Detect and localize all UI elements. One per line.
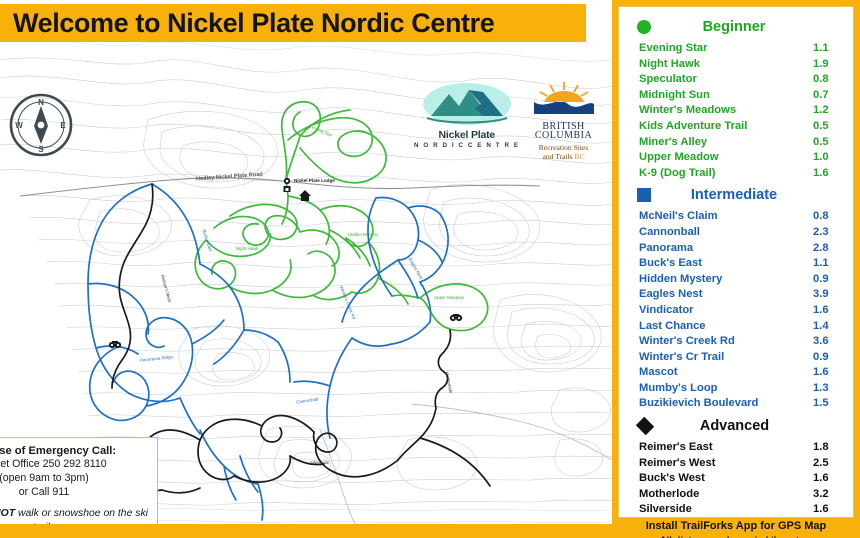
trail-legend-panel: Beginner Evening Star1.1 Night Hawk1.9 S…	[612, 0, 860, 524]
compass-west: W	[15, 121, 23, 130]
trail-distance: 1.9	[813, 57, 843, 73]
emergency-line-1: Ticket Office 250 292 8110	[0, 458, 149, 472]
access-road	[20, 178, 540, 196]
trail-row[interactable]: Reimer's East1.8	[639, 440, 843, 456]
trail-name: Hidden Mystery	[639, 272, 809, 288]
trail-row[interactable]: Evening Star1.1	[639, 41, 843, 57]
trail-distance: 1.6	[813, 471, 843, 487]
trail-row[interactable]: Winter's Meadows1.2	[639, 103, 843, 119]
legend-header-intermediate: Intermediate	[629, 183, 843, 207]
bc-logo-sub2-accent: BC	[575, 152, 585, 161]
trail-row[interactable]: Mascot1.6	[639, 365, 843, 381]
trail-distance: 0.5	[813, 119, 843, 135]
trail-distance: 2.5	[813, 456, 843, 472]
trail-name: Buck's East	[639, 256, 809, 272]
trail-row[interactable]: Buck's East1.1	[639, 256, 843, 272]
trail-row[interactable]: Miner's Alley0.5	[639, 135, 843, 151]
nickel-plate-logo: Nickel Plate N O R D I C C E N T R E	[414, 82, 520, 149]
british-columbia-logo: BRITISH COLUMBIA Recreation Sites and Tr…	[528, 82, 600, 161]
trail-distance: 0.8	[813, 209, 843, 225]
page-title: Welcome to Nickel Plate Nordic Centre	[0, 8, 494, 39]
legend-header-beginner: Beginner	[629, 15, 843, 39]
trail-distance: 0.9	[813, 350, 843, 366]
trail-name: Miner's Alley	[639, 135, 809, 151]
trail-distance: 1.1	[813, 41, 843, 57]
emergency-title: In Case of Emergency Call:	[0, 445, 149, 457]
trail-row[interactable]: Vindicator1.6	[639, 303, 843, 319]
trail-distance: 2.8	[813, 241, 843, 257]
trail-name: Vindicator	[639, 303, 809, 319]
trail-distance: 1.6	[813, 303, 843, 319]
legend-header-advanced: Advanced	[629, 414, 843, 438]
trail-name: Reimer's East	[639, 440, 813, 456]
trail-distance: 3.9	[813, 287, 843, 303]
trail-row[interactable]: Eagles Nest3.9	[639, 287, 843, 303]
trail-name: Eagles Nest	[639, 287, 809, 303]
trail-distance: 3.2	[813, 487, 843, 503]
trail-name: Cannonball	[639, 225, 809, 241]
trail-distance: 1.2	[813, 103, 843, 119]
trail-distance: 1.3	[813, 381, 843, 397]
trail-distance: 2.3	[813, 225, 843, 241]
emergency-info-box: In Case of Emergency Call: Ticket Office…	[0, 437, 158, 538]
trail-row[interactable]: Kids Adventure Trail0.5	[639, 119, 843, 135]
trail-name: Winter's Cr Trail	[639, 350, 809, 366]
trail-name: Winter's Meadows	[639, 103, 809, 119]
legend-section-beginner: Beginner Evening Star1.1 Night Hawk1.9 S…	[629, 15, 843, 181]
trail-distance: 0.8	[813, 72, 843, 88]
trail-row[interactable]: K-9 (Dog Trail)1.6	[639, 166, 843, 182]
legend-inner-frame: Beginner Evening Star1.1 Night Hawk1.9 S…	[618, 6, 854, 518]
trail-distance: 0.7	[813, 88, 843, 104]
trail-name: Upper Meadow	[639, 150, 809, 166]
trail-name: Buck's West	[639, 471, 813, 487]
trail-row[interactable]: Winter's Cr Trail0.9	[639, 350, 843, 366]
nickel-plate-logo-name: Nickel Plate	[414, 129, 520, 141]
compass-south: S	[38, 145, 44, 154]
trail-name: Motherlode	[639, 487, 813, 503]
trail-name: Panorama	[639, 241, 809, 257]
viewpoint-markers	[109, 314, 462, 348]
nickel-plate-logo-subtitle: N O R D I C C E N T R E	[414, 142, 520, 149]
trail-distance: 0.5	[813, 135, 843, 151]
trail-row[interactable]: Winter's Creek Rd3.6	[639, 334, 843, 350]
trail-name: Silverside	[639, 502, 813, 518]
trail-distance: 3.6	[813, 334, 843, 350]
trail-distance: 1.6	[813, 365, 843, 381]
trail-list-beginner: Evening Star1.1 Night Hawk1.9 Speculator…	[629, 41, 843, 181]
trail-name: Midnight Sun	[639, 88, 809, 104]
legend-section-intermediate: Intermediate McNeil's Claim0.8 Cannonbal…	[629, 183, 843, 412]
trail-map-page: Hedley Nickel Plate Road Nickel Plate Lo…	[0, 0, 860, 538]
trail-row[interactable]: Last Chance1.4	[639, 319, 843, 335]
trail-name: Night Hawk	[639, 57, 809, 73]
emergency-line-2: (open 9am to 3pm)	[0, 472, 149, 486]
trail-name: Buzikievich Boulevard	[639, 396, 809, 412]
trail-list-advanced: Reimer's East1.8 Reimer's West2.5 Buck's…	[629, 440, 843, 518]
trail-row[interactable]: Speculator0.8	[639, 72, 843, 88]
trail-list-intermediate: McNeil's Claim0.8 Cannonball2.3 Panorama…	[629, 209, 843, 412]
trail-name: Kids Adventure Trail	[639, 119, 809, 135]
trail-name: Last Chance	[639, 319, 809, 335]
trail-name: McNeil's Claim	[639, 209, 809, 225]
compass-east: E	[60, 121, 66, 130]
trail-distance: 1.4	[813, 319, 843, 335]
bc-logo-line2: COLUMBIA	[528, 130, 600, 141]
legend-title-beginner: Beginner	[651, 19, 843, 35]
trail-row[interactable]: Night Hawk1.9	[639, 57, 843, 73]
logo-group: Nickel Plate N O R D I C C E N T R E BRI…	[414, 82, 606, 158]
title-banner: Welcome to Nickel Plate Nordic Centre	[0, 4, 586, 42]
emergency-warning-bold: DO NOT	[0, 508, 15, 519]
trail-row[interactable]: Upper Meadow1.0	[639, 150, 843, 166]
trail-name: K-9 (Dog Trail)	[639, 166, 809, 182]
trail-row[interactable]: Hidden Mystery0.9	[639, 272, 843, 288]
trail-distance: 1.6	[813, 502, 843, 518]
trail-row[interactable]: Silverside1.6	[639, 502, 843, 518]
trailforks-app-line: Install TrailForks App for GPS Map	[629, 520, 843, 532]
trail-row[interactable]: Buzikievich Boulevard1.5	[639, 396, 843, 412]
trail-row[interactable]: Motherlode3.2	[639, 487, 843, 503]
trail-row[interactable]: Buck's West1.6	[639, 471, 843, 487]
trail-row[interactable]: Midnight Sun0.7	[639, 88, 843, 104]
compass-north: N	[38, 98, 44, 107]
trail-row[interactable]: Cannonball2.3	[639, 225, 843, 241]
trail-name: Evening Star	[639, 41, 809, 57]
trail-distance: 1.6	[813, 166, 843, 182]
trail-distance: 1.5	[813, 396, 843, 412]
legend-footer: Install TrailForks App for GPS Map All d…	[629, 520, 843, 538]
trail-row[interactable]: Reimer's West2.5	[639, 456, 843, 472]
trail-row[interactable]: Mumby's Loop1.3	[639, 381, 843, 397]
trail-distance: 1.8	[813, 440, 843, 456]
trail-name: Mumby's Loop	[639, 381, 809, 397]
trail-map-canvas[interactable]: Hedley Nickel Plate Road Nickel Plate Lo…	[0, 0, 612, 538]
bc-logo-sub1: Recreation Sites	[539, 143, 589, 152]
trail-distance: 1.0	[813, 150, 843, 166]
square-marker-icon	[637, 188, 651, 202]
bc-logo-subtitle: Recreation Sites and Trails BC	[528, 144, 600, 161]
trail-name: Reimer's West	[639, 456, 813, 472]
bc-logo-sub2: and Trails	[542, 152, 574, 161]
legend-section-advanced: Advanced Reimer's East1.8 Reimer's West2…	[629, 414, 843, 518]
trail-name: Speculator	[639, 72, 809, 88]
trail-row[interactable]: McNeil's Claim0.8	[639, 209, 843, 225]
trail-distance: 0.9	[813, 272, 843, 288]
emergency-line-3: or Call 911	[0, 486, 149, 500]
trail-name: Winter's Creek Rd	[639, 334, 809, 350]
trail-name: Mascot	[639, 365, 809, 381]
legend-title-advanced: Advanced	[652, 418, 843, 434]
legend-title-intermediate: Intermediate	[651, 187, 843, 203]
trail-row[interactable]: Panorama2.8	[639, 241, 843, 257]
trail-distance: 1.1	[813, 256, 843, 272]
advanced-trails-black	[112, 184, 490, 493]
circle-marker-icon	[637, 20, 651, 34]
compass-rose: N E S W	[4, 88, 78, 162]
